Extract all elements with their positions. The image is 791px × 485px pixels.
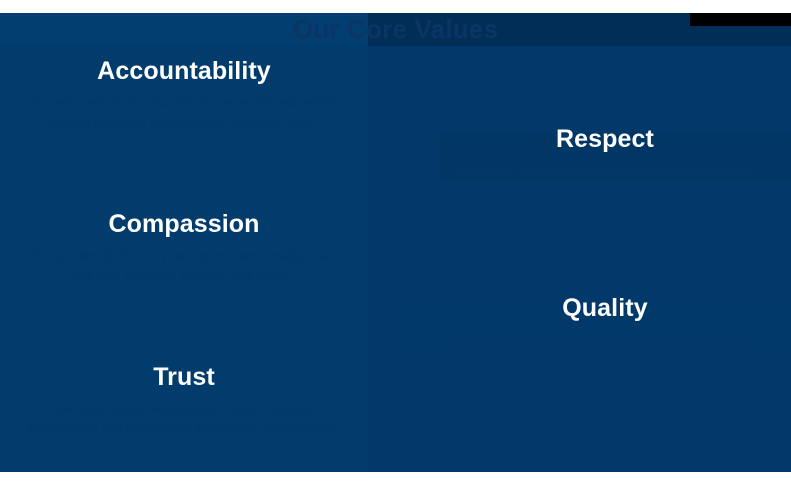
core-values-graphic: Our Core Values Accountability We take o…	[0, 0, 791, 485]
value-body-respect: We value the unique perspectives, backgr…	[440, 162, 770, 201]
value-heading-respect: Respect	[440, 126, 770, 154]
value-block-compassion: Compassion We care deeply for every pers…	[24, 211, 344, 285]
value-body-accountability: We take ownership of our actions, decisi…	[24, 94, 344, 133]
value-body-quality: We pursue excellence in everything we do…	[440, 331, 770, 370]
title-bar: Our Core Values	[0, 13, 791, 46]
page-title: Our Core Values	[293, 14, 498, 45]
value-heading-compassion: Compassion	[24, 211, 344, 239]
value-block-quality: Quality We pursue excellence in everythi…	[440, 295, 770, 369]
panel-tone-right	[368, 46, 791, 472]
value-heading-trust: Trust	[24, 364, 344, 392]
value-body-compassion: We care deeply for every person we meet,…	[24, 247, 344, 286]
value-heading-accountability: Accountability	[24, 58, 344, 86]
value-body-trust: We build lasting relationships through h…	[24, 400, 344, 439]
value-block-respect: Respect We value the unique perspectives…	[440, 126, 770, 200]
value-block-trust: Trust We build lasting relationships thr…	[24, 364, 344, 438]
value-heading-quality: Quality	[440, 295, 770, 323]
value-block-accountability: Accountability We take ownership of our …	[24, 58, 344, 132]
